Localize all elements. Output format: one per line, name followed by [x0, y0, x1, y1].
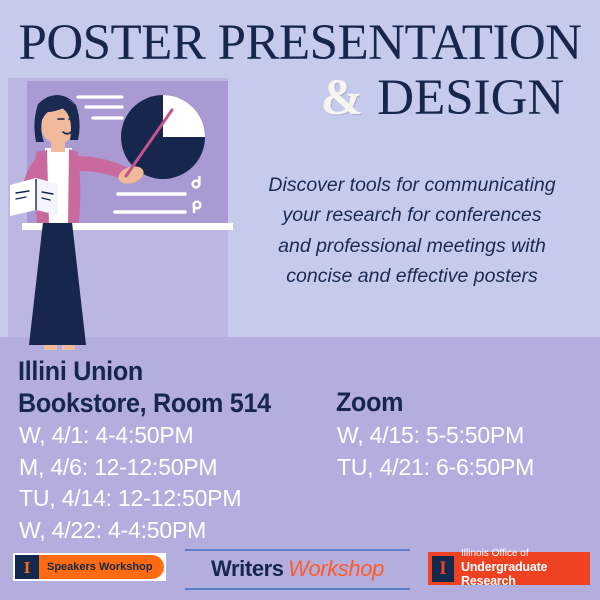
session-item: M, 4/6: 12-12:50PM — [19, 452, 241, 484]
ampersand-glyph: & — [321, 70, 363, 126]
description-line-1: Discover tools for communicating — [228, 170, 596, 200]
speakers-workshop-label: Speakers Workshop — [39, 561, 153, 573]
description-line-2: your research for conferences — [228, 200, 596, 230]
venue-2-line-1: Zoom — [336, 387, 403, 419]
venue-name-zoom: Zoom — [336, 387, 403, 419]
logo-writers-workshop[interactable]: Writers Workshop — [185, 549, 410, 590]
session-list-illini-union: W, 4/1: 4-4:50PM M, 4/6: 12-12:50PM TU, … — [19, 420, 241, 546]
description-line-3: and professional meetings with — [228, 231, 596, 261]
venue-name-illini-union: Illini Union Bookstore, Room 514 — [18, 356, 271, 419]
session-item: TU, 4/21: 6-6:50PM — [337, 452, 534, 484]
illinois-i-icon: I — [432, 556, 454, 582]
presenter-leg-left — [44, 345, 57, 350]
session-item: W, 4/22: 4-4:50PM — [19, 515, 241, 547]
open-book-icon — [10, 178, 58, 216]
presenter-skirt — [29, 222, 86, 345]
poster-title-line2: DESIGN — [377, 70, 564, 126]
description-line-4: concise and effective posters — [228, 261, 596, 291]
session-item: W, 4/1: 4-4:50PM — [19, 420, 241, 452]
venue-1-line-1: Illini Union — [18, 356, 271, 388]
session-item: W, 4/15: 5-5:50PM — [337, 420, 534, 452]
undergrad-research-text: Illinois Office of Undergraduate Researc… — [461, 548, 586, 588]
workshop-word: Workshop — [288, 556, 384, 581]
illinois-i-glyph: I — [24, 559, 31, 576]
presenter-leg-right — [62, 345, 75, 350]
illinois-i-icon: I — [15, 555, 39, 579]
logo-undergraduate-research[interactable]: I Illinois Office of Undergraduate Resea… — [428, 552, 590, 585]
poster-description: Discover tools for communicating your re… — [228, 170, 596, 292]
poster-canvas: POSTER PRESENTATION &DESIGN Discover too… — [0, 0, 600, 600]
presenter-illustration — [0, 60, 240, 350]
undergrad-research-line-1: Illinois Office of — [461, 548, 586, 560]
poster-title-line2-group: &DESIGN — [290, 73, 595, 124]
session-item: TU, 4/14: 12-12:50PM — [19, 483, 241, 515]
venue-1-line-2: Bookstore, Room 514 — [18, 388, 271, 420]
illinois-i-glyph: I — [439, 559, 446, 578]
undergrad-research-line-2: Undergraduate Research — [461, 560, 586, 589]
logo-speakers-workshop[interactable]: I Speakers Workshop — [13, 553, 166, 581]
writers-word: Writers — [211, 556, 284, 581]
session-list-zoom: W, 4/15: 5-5:50PM TU, 4/21: 6-6:50PM — [337, 420, 534, 483]
speakers-workshop-pill: I Speakers Workshop — [15, 555, 164, 579]
